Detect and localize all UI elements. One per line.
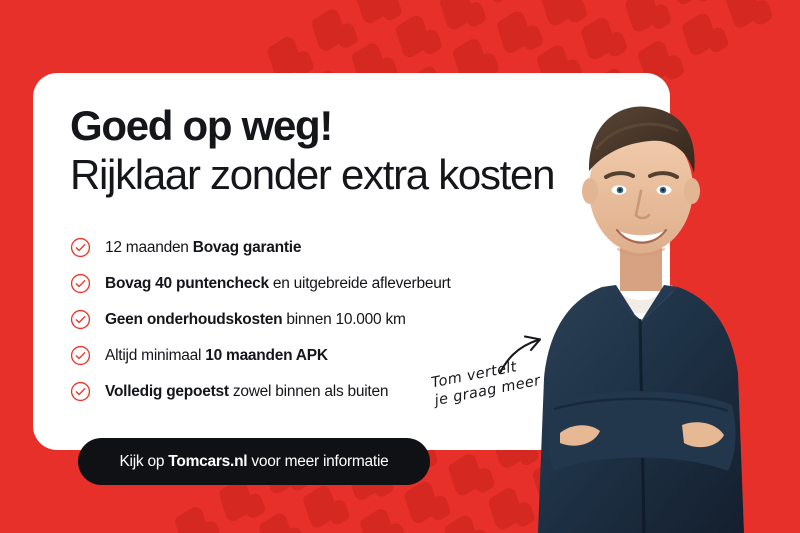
- tread-chunk: [198, 517, 222, 533]
- tread-chunk: [383, 519, 407, 533]
- text-bold: Geen onderhoudskosten: [105, 311, 282, 328]
- list-item: Volledig gepoetst zowel binnen als buite…: [70, 374, 540, 409]
- tread-chunk: [448, 450, 484, 499]
- cta-label: Kijk op Tomcars.nl voor meer informatie: [119, 453, 388, 471]
- tread-chunk: [444, 512, 480, 533]
- tread-chunk: [584, 0, 620, 2]
- tread-chunk: [604, 28, 628, 60]
- text-bold: Bovag garantie: [193, 239, 301, 256]
- tread-chunk: [749, 0, 773, 28]
- tread-chunk: [624, 0, 660, 36]
- headline-secondary: Rijklaar zonder extra kosten: [70, 151, 610, 198]
- check-circle-icon: [70, 273, 91, 294]
- cta-suffix: voor meer informatie: [247, 453, 388, 470]
- tread-chunk: [520, 22, 544, 54]
- tread-chunk: [668, 0, 704, 8]
- check-circle-icon: [70, 237, 91, 258]
- headline-block: Goed op weg! Rijklaar zonder extra koste…: [70, 104, 610, 198]
- list-item-label: Altijd minimaal 10 maanden APK: [105, 348, 328, 364]
- more-info-button[interactable]: Kijk op Tomcars.nl voor meer informatie: [78, 438, 430, 485]
- tread-chunk: [648, 0, 672, 32]
- tread-chunk: [258, 510, 294, 533]
- check-circle-icon: [70, 309, 91, 330]
- check-circle-icon: [70, 345, 91, 366]
- tread-chunk: [545, 507, 581, 533]
- tread-chunk: [725, 0, 761, 31]
- tread-chunk: [692, 0, 716, 5]
- tread-chunk: [496, 8, 532, 57]
- tread-chunk: [511, 498, 535, 530]
- tread-chunk: [419, 26, 443, 58]
- tread-chunk: [705, 24, 729, 56]
- list-item-label: 12 maanden Bovag garantie: [105, 240, 301, 256]
- list-item-label: Volledig gepoetst zowel binnen als buite…: [105, 384, 388, 400]
- tread-chunk: [661, 51, 685, 83]
- tread-chunk: [282, 524, 306, 533]
- tread-chunk: [483, 0, 519, 6]
- cta-prefix: Kijk op: [119, 453, 168, 470]
- list-item: Bovag 40 puntencheck en uitgebreide afle…: [70, 266, 540, 301]
- tread-chunk: [568, 522, 592, 533]
- tread-chunk: [174, 503, 210, 533]
- tread-chunk: [355, 0, 391, 27]
- tread-chunk: [580, 14, 616, 63]
- tread-chunk: [379, 0, 403, 24]
- feature-list: 12 maanden Bovag garantie Bovag 40 punte…: [70, 230, 540, 410]
- check-circle-icon: [70, 381, 91, 402]
- tread-chunk: [532, 457, 568, 506]
- tread-chunk: [564, 0, 588, 26]
- tread-chunk: [403, 478, 439, 527]
- text-prefix: 12 maanden: [105, 239, 193, 256]
- tread-chunk: [467, 526, 491, 533]
- headline-primary: Goed op weg!: [70, 104, 610, 149]
- tread-chunk: [395, 12, 431, 61]
- tread-chunk: [302, 482, 338, 531]
- tread-chunk: [507, 0, 531, 3]
- tread-chunk: [439, 0, 475, 34]
- list-item: Altijd minimaal 10 maanden APK: [70, 338, 540, 373]
- list-item-label: Geen onderhoudskosten binnen 10.000 km: [105, 312, 406, 328]
- text-bold: Volledig gepoetst: [105, 383, 229, 400]
- tread-chunk: [427, 492, 451, 524]
- tread-chunk: [488, 484, 524, 533]
- text-suffix: en uitgebreide afleverbeurt: [269, 275, 451, 292]
- text-bold: 10 maanden APK: [205, 347, 328, 364]
- tread-chunk: [681, 10, 717, 59]
- tread-chunk: [334, 20, 358, 52]
- text-prefix: Altijd minimaal: [105, 347, 205, 364]
- promo-banner: Goed op weg! Rijklaar zonder extra koste…: [0, 0, 800, 533]
- tread-chunk: [311, 5, 347, 54]
- list-item: Geen onderhoudskosten binnen 10.000 km: [70, 302, 540, 337]
- text-suffix: binnen 10.000 km: [282, 311, 405, 328]
- list-item-label: Bovag 40 puntencheck en uitgebreide afle…: [105, 276, 451, 292]
- tread-chunk: [540, 0, 576, 29]
- tread-chunk: [471, 464, 495, 496]
- tread-chunk: [326, 496, 350, 528]
- cta-brand: Tomcars.nl: [168, 453, 247, 470]
- tread-chunk: [359, 505, 395, 533]
- tread-chunk: [242, 490, 266, 522]
- text-suffix: zowel binnen als buiten: [229, 383, 388, 400]
- list-item: 12 maanden Bovag garantie: [70, 230, 540, 265]
- text-bold: Bovag 40 puntencheck: [105, 275, 269, 292]
- tread-chunk: [555, 471, 579, 503]
- tread-chunk: [463, 0, 487, 30]
